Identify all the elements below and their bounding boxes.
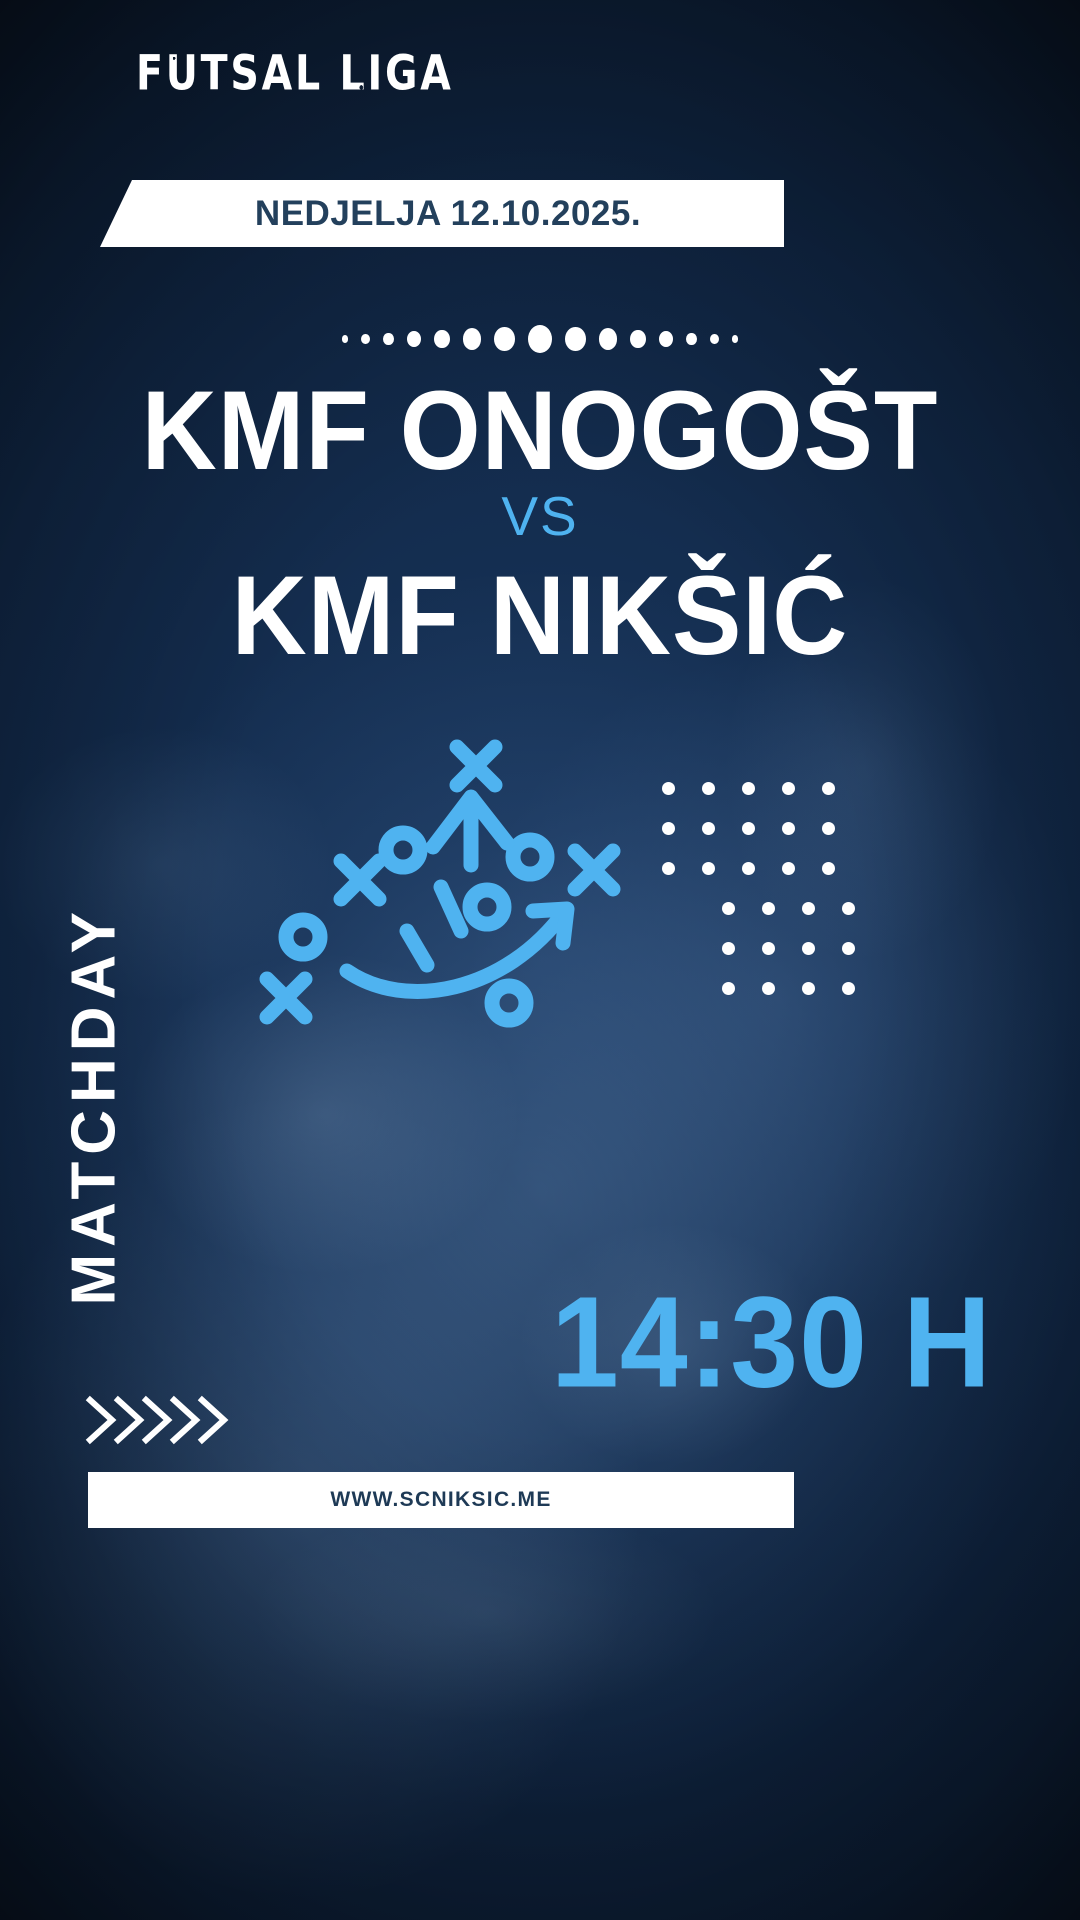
- o-mark-icon: [513, 840, 547, 874]
- x-mark-icon: [575, 851, 613, 889]
- x-mark-icon: [341, 861, 379, 899]
- grid-dot: [722, 982, 735, 995]
- futsal-liga-logo: FUTSAL LIGA: [136, 46, 454, 102]
- grid-dot: [702, 862, 715, 875]
- o-mark-icon: [286, 920, 320, 954]
- x-mark-icon: [267, 979, 305, 1017]
- grid-dot: [742, 782, 755, 795]
- grid-dot: [782, 862, 795, 875]
- date-banner: NEDJELJA 12.10.2025.: [100, 180, 784, 247]
- grid-dot: [842, 942, 855, 955]
- dashed-run-line: [407, 887, 461, 965]
- grid-dot: [702, 822, 715, 835]
- divider-dot: [361, 334, 370, 345]
- grid-dot: [802, 982, 815, 995]
- grid-dot: [762, 902, 775, 915]
- divider-dot: [565, 327, 586, 352]
- divider-dot: [494, 327, 515, 352]
- date-text: NEDJELJA 12.10.2025.: [243, 194, 641, 234]
- divider-dot: [630, 330, 646, 349]
- grid-dot: [742, 822, 755, 835]
- footer-bar: WWW.SCNIKSIC.ME: [88, 1472, 794, 1528]
- arrow-up-icon: [433, 797, 507, 865]
- footer-url: WWW.SCNIKSIC.ME: [330, 1488, 551, 1512]
- grid-dot: [742, 862, 755, 875]
- o-mark-icon: [470, 890, 504, 924]
- grid-dot: [782, 822, 795, 835]
- grid-dot: [762, 982, 775, 995]
- divider-dot: [732, 335, 738, 342]
- divider-dot: [463, 328, 481, 349]
- grid-dot: [662, 782, 675, 795]
- grid-dot: [842, 902, 855, 915]
- divider-dot: [686, 333, 697, 346]
- divider-dot: [710, 334, 719, 345]
- o-mark-icon: [386, 833, 420, 867]
- divider-dot: [599, 328, 617, 349]
- chevron-arrows-icon: [84, 1390, 254, 1450]
- divider-dot: [383, 333, 394, 346]
- grid-dot: [822, 782, 835, 795]
- grid-dot: [662, 822, 675, 835]
- grid-dot: [802, 942, 815, 955]
- grid-dot: [822, 862, 835, 875]
- home-team-name: KMF ONOGOŠT: [0, 367, 1080, 496]
- x-mark-icon: [457, 747, 495, 785]
- grid-dot: [722, 902, 735, 915]
- grid-dot: [722, 942, 735, 955]
- divider-dot: [434, 330, 450, 349]
- grid-dot: [842, 982, 855, 995]
- divider-dot: [407, 331, 421, 348]
- divider-dot: [528, 325, 552, 353]
- grid-dot: [782, 782, 795, 795]
- versus-label: VS: [0, 484, 1080, 548]
- grid-dot: [802, 902, 815, 915]
- matchday-label: MATCHDAY: [59, 946, 130, 1306]
- kickoff-time: 14:30 H: [551, 1268, 992, 1416]
- grid-dot: [822, 822, 835, 835]
- matchday-poster: FUTSAL LIGA NEDJELJA 12.10.2025. KMF ONO…: [0, 0, 1080, 1920]
- o-mark-icon: [492, 986, 526, 1020]
- tactics-diagram-icon: [255, 725, 655, 1035]
- grid-dot: [662, 862, 675, 875]
- dot-grid-pattern: [662, 782, 872, 1032]
- away-team-name: KMF NIKŠIĆ: [0, 552, 1080, 681]
- grid-dot: [702, 782, 715, 795]
- grid-dot: [762, 942, 775, 955]
- divider-dot: [342, 335, 348, 342]
- dot-divider: [0, 322, 1080, 356]
- divider-dot: [659, 331, 673, 348]
